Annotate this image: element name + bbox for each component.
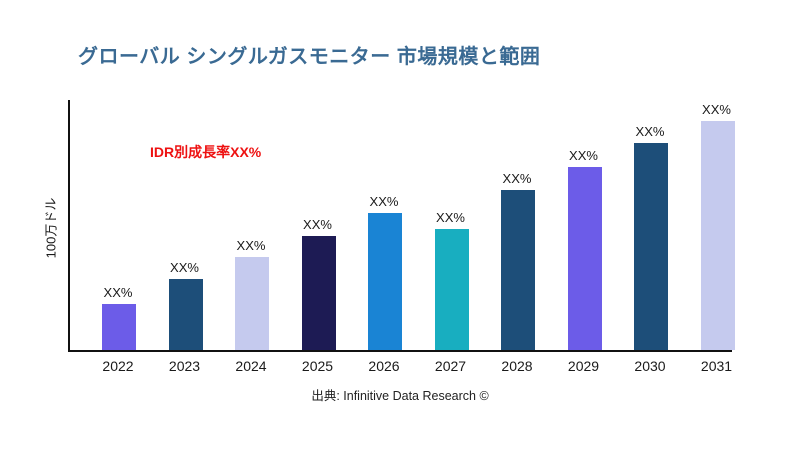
bar-value-label: XX% [618,124,682,139]
bar-group[interactable]: XX%2029 [552,100,616,350]
bar-value-label: XX% [419,210,483,225]
y-axis-label: 100万ドル [41,198,60,259]
bar[interactable] [169,279,203,350]
x-axis-tick-label: 2022 [86,358,150,374]
bar-value-label: XX% [153,260,217,275]
x-axis-tick-label: 2029 [552,358,616,374]
bar-value-label: XX% [352,194,416,209]
bar-group[interactable]: XX%2028 [485,100,549,350]
bar-group[interactable]: XX%2025 [286,100,350,350]
bar-value-label: XX% [552,148,616,163]
bar-group[interactable]: XX%2024 [219,100,283,350]
x-axis-tick-label: 2031 [685,358,749,374]
plot-area: 100万ドル IDR別成長率XX% XX%2022XX%2023XX%2024X… [68,100,780,350]
x-axis-tick-label: 2028 [485,358,549,374]
bar[interactable] [368,213,402,350]
bar[interactable] [302,236,336,350]
chart-container: グローバル シングルガスモニター 市場規模と範囲 100万ドル IDR別成長率X… [0,0,800,450]
bar-group[interactable]: XX%2030 [618,100,682,350]
bar-value-label: XX% [219,238,283,253]
bar[interactable] [102,304,136,350]
bar-value-label: XX% [286,217,350,232]
bar-group[interactable]: XX%2022 [86,100,150,350]
bar-value-label: XX% [485,171,549,186]
bar-group[interactable]: XX%2031 [685,100,749,350]
x-axis-tick-label: 2026 [352,358,416,374]
bar[interactable] [568,167,602,350]
x-axis-tick-label: 2027 [419,358,483,374]
bar-group[interactable]: XX%2023 [153,100,217,350]
bar-value-label: XX% [86,285,150,300]
x-axis-tick-label: 2025 [286,358,350,374]
bar[interactable] [701,121,735,350]
chart-title: グローバル シングルガスモニター 市場規模と範囲 [78,40,540,69]
bar[interactable] [501,190,535,350]
x-axis-tick-label: 2030 [618,358,682,374]
bar-group[interactable]: XX%2026 [352,100,416,350]
source-note: 出典: Infinitive Data Research © [311,385,488,404]
bar-group[interactable]: XX%2027 [419,100,483,350]
bar[interactable] [235,257,269,350]
bar[interactable] [634,143,668,350]
bar-value-label: XX% [685,102,749,117]
x-axis-line [68,350,732,352]
x-axis-tick-label: 2024 [219,358,283,374]
bar[interactable] [435,229,469,350]
x-axis-tick-label: 2023 [153,358,217,374]
bars-layer: XX%2022XX%2023XX%2024XX%2025XX%2026XX%20… [68,100,780,350]
